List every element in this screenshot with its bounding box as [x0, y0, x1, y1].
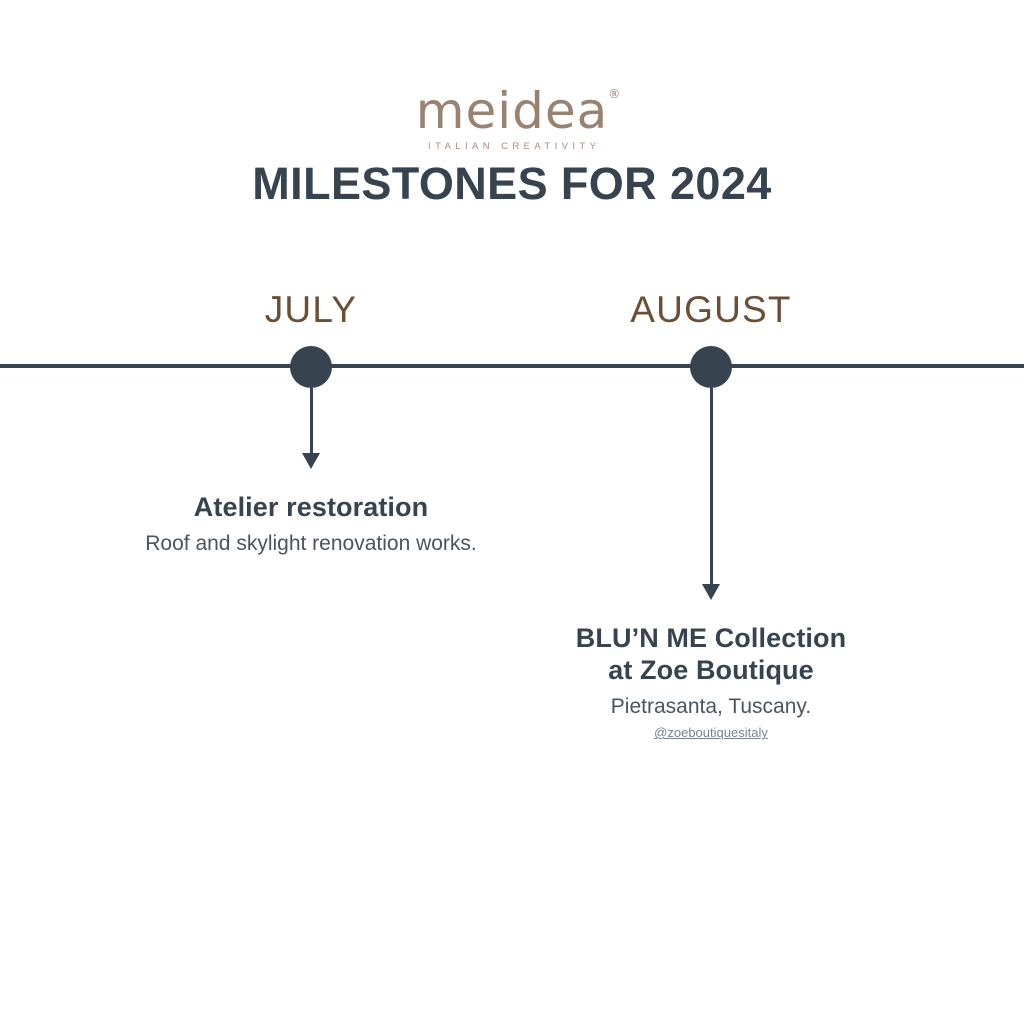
milestone-august-month: AUGUST	[451, 291, 971, 328]
milestone-july-node-dot	[290, 346, 332, 388]
milestone-august-subtitle: Pietrasanta, Tuscany.	[431, 693, 991, 720]
brand-logo: meidea® ITALIAN CREATIVITY	[0, 86, 1024, 152]
milestone-august-social-handle[interactable]: @zoeboutiquesitaly	[431, 725, 991, 742]
brand-wordmark-text: meidea®	[416, 86, 609, 136]
milestone-july-detail: Atelier restoration Roof and skylight re…	[31, 492, 591, 557]
infographic-canvas: meidea® ITALIAN CREATIVITY MILESTONES FO…	[0, 0, 1024, 1024]
milestone-august-connector-line	[710, 388, 713, 586]
page-title: MILESTONES FOR 2024	[0, 158, 1024, 210]
milestone-august-node-dot	[690, 346, 732, 388]
milestone-july-connector-line	[310, 388, 313, 455]
timeline-axis	[0, 364, 1024, 368]
registered-trademark-icon: ®	[608, 88, 621, 100]
brand-tagline: ITALIAN CREATIVITY	[0, 141, 1024, 152]
milestone-august-title-line2: at Zoe Boutique	[431, 655, 991, 687]
milestone-july-title: Atelier restoration	[31, 492, 591, 524]
milestone-august-arrow-icon	[702, 584, 720, 600]
brand-wordmark-label: meidea	[416, 82, 609, 140]
milestone-july-subtitle: Roof and skylight renovation works.	[31, 530, 591, 557]
milestone-august-detail: BLU’N ME Collection at Zoe Boutique Piet…	[431, 623, 991, 742]
milestone-august-title-line1: BLU’N ME Collection	[431, 623, 991, 655]
milestone-july-arrow-icon	[302, 453, 320, 469]
